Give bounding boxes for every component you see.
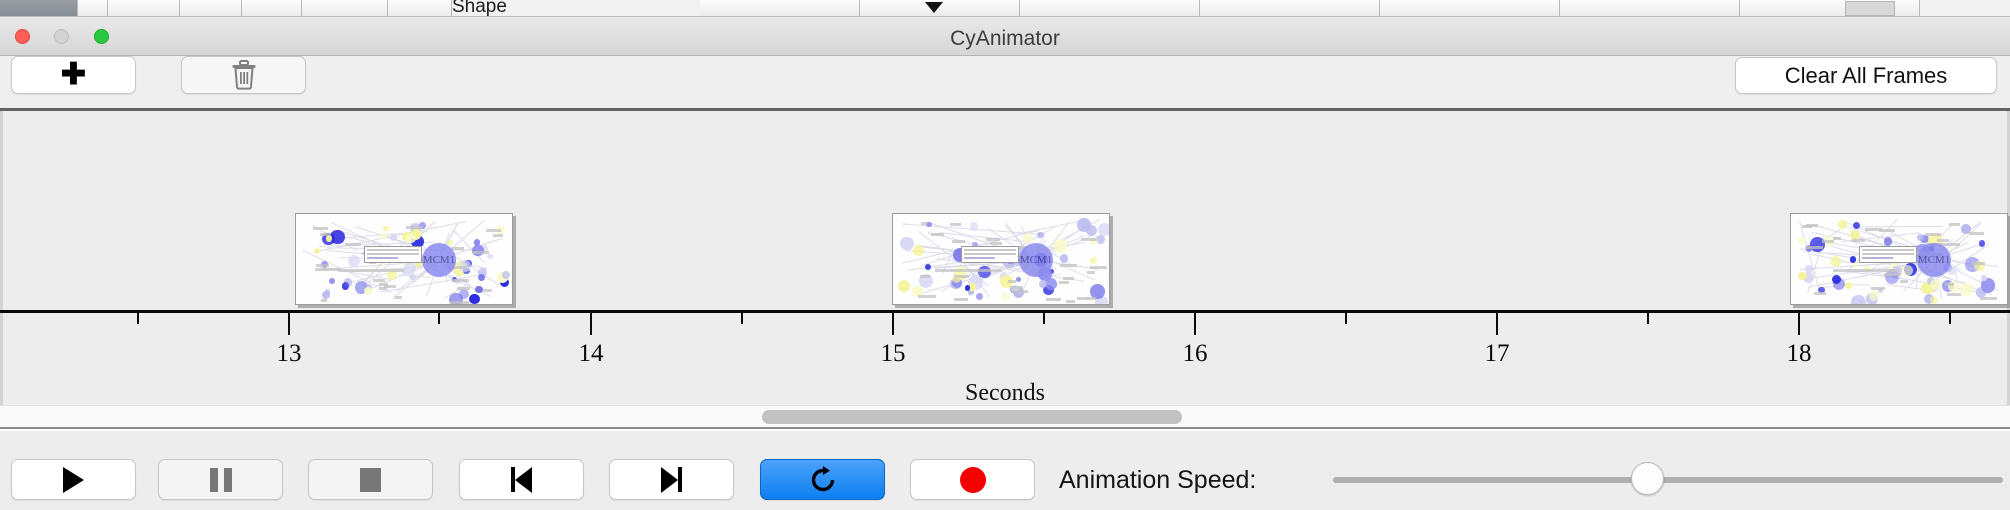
- background-toolbar-chip: [388, 0, 452, 17]
- network-node-label: [320, 233, 331, 236]
- clear-all-frames-button[interactable]: Clear All Frames: [1735, 57, 1997, 94]
- background-shape-label: Shape: [452, 0, 507, 17]
- network-node: [1023, 233, 1033, 243]
- background-toolbar-chip: [302, 0, 388, 17]
- network-node-label: [1969, 232, 1984, 235]
- network-node: [487, 254, 493, 260]
- skip-to-start-button[interactable]: [459, 459, 584, 500]
- axis-tick-minor: [1345, 313, 1347, 324]
- network-thumbnail-canvas: MCM1: [296, 214, 512, 304]
- network-node-label: [1833, 237, 1841, 240]
- network-node: [326, 235, 332, 241]
- play-icon: [63, 467, 84, 493]
- timeline-axis-line: [0, 310, 2010, 313]
- network-node-label: [991, 242, 1002, 245]
- network-node: [1845, 282, 1852, 289]
- network-node-label: [952, 240, 965, 243]
- background-toolbar-chip: [1020, 0, 1200, 17]
- background-cursor-notch: [925, 2, 943, 13]
- network-node: [1851, 295, 1866, 305]
- animation-speed-label: Animation Speed:: [1059, 466, 1256, 495]
- network-node-label: [1900, 280, 1907, 283]
- axis-tick-label: 14: [579, 340, 604, 368]
- pause-icon: [210, 468, 232, 492]
- network-node: [1798, 237, 1805, 244]
- network-node-label: [1884, 273, 1901, 276]
- delete-frame-button[interactable]: [181, 56, 306, 94]
- network-hub-node: MCM1: [422, 243, 456, 277]
- network-node: [1090, 257, 1097, 264]
- network-node-label: [395, 296, 402, 299]
- network-node: [1037, 232, 1043, 238]
- axis-tick-major: [590, 313, 592, 335]
- record-button[interactable]: [910, 459, 1035, 500]
- network-node-label: [920, 275, 931, 278]
- network-node: [976, 293, 983, 300]
- background-toolbar-chip: [700, 0, 860, 17]
- network-annotation-callout: [1859, 246, 1917, 263]
- skip-to-end-button[interactable]: [609, 459, 734, 500]
- network-node: [970, 222, 978, 230]
- loop-button[interactable]: [760, 459, 885, 500]
- network-node-label: [1059, 281, 1069, 284]
- network-node-label: [1971, 262, 1986, 265]
- network-node: [1930, 279, 1941, 290]
- network-node: [1917, 234, 1924, 241]
- axis-tick-minor: [137, 313, 139, 324]
- network-hub-node: MCM1: [1019, 243, 1053, 277]
- network-node-label: [1949, 223, 1960, 226]
- axis-tick-label: 16: [1183, 340, 1208, 368]
- network-node-label: [321, 299, 328, 302]
- network-node-label: [1090, 266, 1107, 269]
- network-node: [913, 245, 924, 256]
- loop-icon: [808, 465, 838, 495]
- axis-tick-minor: [741, 313, 743, 324]
- network-node: [1798, 272, 1807, 281]
- network-node-label: [1802, 225, 1813, 228]
- network-caption-text: [338, 269, 404, 272]
- network-node: [1001, 293, 1009, 301]
- skip-back-icon: [511, 467, 532, 493]
- background-toolbar-chip: [1560, 0, 1740, 17]
- network-node: [1979, 240, 1986, 247]
- network-node: [478, 274, 485, 281]
- axis-tick-minor: [1647, 313, 1649, 324]
- network-node-label: [1066, 300, 1076, 303]
- network-node: [406, 234, 415, 243]
- network-node-label: [1980, 297, 1997, 300]
- skip-forward-icon: [661, 467, 682, 493]
- plus-icon: ✚: [61, 60, 86, 90]
- network-node: [342, 282, 349, 289]
- network-node: [364, 287, 372, 295]
- axis-tick-label: 13: [277, 340, 302, 368]
- background-toolbar-chip: [242, 0, 302, 17]
- network-node-label: [1852, 239, 1865, 242]
- axis-tick-major: [1496, 313, 1498, 335]
- network-node-label: [954, 275, 970, 278]
- network-node-label: [1814, 292, 1826, 295]
- network-node-label: [345, 243, 361, 246]
- axis-tick-label: 15: [881, 340, 906, 368]
- network-node: [469, 294, 480, 305]
- background-toolbar-chip: [0, 0, 78, 17]
- network-node: [381, 233, 387, 239]
- axis-tick-minor: [438, 313, 440, 324]
- frame-thumbnail[interactable]: MCM1: [1790, 213, 2008, 305]
- network-node: [1830, 256, 1841, 267]
- background-toolbar-chip: [1200, 0, 1380, 17]
- network-node-label: [452, 279, 470, 282]
- play-button[interactable]: [11, 459, 136, 500]
- frame-thumbnail[interactable]: MCM1: [892, 213, 1110, 305]
- network-node: [1054, 239, 1067, 252]
- axis-tick-major: [892, 313, 894, 335]
- network-node-label: [1805, 246, 1824, 249]
- network-node: [925, 264, 931, 270]
- network-node-label: [954, 298, 968, 301]
- background-window-strip: Shape: [0, 0, 2010, 17]
- network-node-label: [406, 226, 423, 229]
- timeline-axis-title: Seconds: [0, 380, 2010, 407]
- network-node-label: [1087, 297, 1097, 300]
- network-node-label: [1063, 277, 1074, 280]
- network-node-label: [1947, 293, 1961, 296]
- window-titlebar: CyAnimator: [0, 17, 2010, 56]
- network-thumbnail-canvas: MCM1: [893, 214, 1109, 304]
- record-icon: [960, 467, 986, 493]
- network-node-label: [921, 222, 927, 225]
- network-node: [1838, 220, 1847, 229]
- network-node: [1981, 275, 1987, 281]
- axis-tick-minor: [1949, 313, 1951, 324]
- network-node-label: [493, 234, 503, 237]
- animation-speed-slider-thumb[interactable]: [1631, 462, 1664, 495]
- axis-tick-label: 17: [1485, 340, 1510, 368]
- network-node-label: [1081, 238, 1097, 241]
- background-toolbar-chip: [180, 0, 242, 17]
- network-node-label: [1871, 287, 1884, 290]
- network-node: [1039, 280, 1047, 288]
- timeline-scrollbar-thumb[interactable]: [762, 410, 1182, 424]
- stop-icon: [360, 468, 381, 492]
- axis-tick-major: [288, 313, 290, 335]
- timeline-left-edge: [0, 111, 3, 405]
- pause-button[interactable]: [158, 459, 283, 500]
- animation-speed-slider-track[interactable]: [1333, 477, 2003, 483]
- network-node-label: [315, 268, 327, 271]
- network-node-label: [1925, 233, 1942, 236]
- network-caption-text: [935, 269, 1001, 272]
- network-node: [1045, 278, 1057, 290]
- network-node-label: [316, 264, 330, 267]
- background-toolbar-chip: [1380, 0, 1560, 17]
- network-node: [1930, 296, 1938, 304]
- axis-tick-label: 18: [1787, 340, 1812, 368]
- network-node: [1016, 277, 1021, 282]
- network-node-label: [931, 233, 944, 236]
- window-title: CyAnimator: [0, 27, 2010, 51]
- network-node: [383, 226, 389, 232]
- add-frame-button[interactable]: ✚: [11, 56, 136, 94]
- trash-icon: [231, 60, 257, 90]
- network-node: [474, 239, 480, 245]
- network-node: [1850, 256, 1856, 262]
- network-node: [965, 285, 971, 291]
- network-node: [447, 240, 453, 246]
- network-node-label: [486, 229, 501, 232]
- network-node: [1060, 254, 1068, 262]
- network-annotation-callout: [961, 246, 1019, 263]
- network-node-label: [1945, 283, 1954, 286]
- network-node: [1960, 283, 1973, 296]
- network-node-label: [1011, 290, 1028, 293]
- background-toolbar-chip: [78, 0, 108, 17]
- background-gripper: [1845, 1, 1895, 16]
- network-node: [314, 248, 320, 254]
- background-toolbar-chip: [108, 0, 180, 17]
- network-node-label: [1008, 280, 1016, 283]
- network-node-label: [483, 289, 492, 292]
- network-node-label: [313, 227, 328, 230]
- network-node: [409, 274, 415, 280]
- stop-button[interactable]: [308, 459, 433, 500]
- network-node: [329, 278, 335, 284]
- network-node: [390, 234, 397, 241]
- axis-tick-major: [1798, 313, 1800, 335]
- network-node: [1098, 223, 1110, 236]
- network-node: [900, 237, 913, 250]
- network-node-label: [384, 285, 396, 288]
- network-node: [1901, 265, 1912, 276]
- network-thumbnail-canvas: MCM1: [1791, 214, 2007, 304]
- network-node: [898, 280, 910, 292]
- network-node-label: [373, 279, 385, 282]
- axis-tick-major: [1194, 313, 1196, 335]
- network-node-label: [918, 295, 936, 298]
- frame-thumbnail[interactable]: MCM1: [295, 213, 513, 305]
- network-node-label: [986, 238, 1000, 241]
- network-node-label: [451, 301, 470, 304]
- network-node-label: [472, 251, 490, 254]
- network-node-label: [1060, 264, 1077, 267]
- network-node-label: [1087, 271, 1095, 274]
- axis-tick-minor: [1043, 313, 1045, 324]
- network-node-label: [1046, 298, 1061, 301]
- network-annotation-callout: [364, 246, 422, 263]
- network-hub-node: MCM1: [1917, 243, 1951, 277]
- network-caption-text: [1833, 269, 1899, 272]
- network-node: [1884, 237, 1893, 246]
- network-node: [1805, 265, 1813, 273]
- network-node: [502, 271, 510, 279]
- network-node-label: [1879, 229, 1895, 232]
- network-node-label: [457, 287, 469, 290]
- network-node-label: [950, 223, 961, 226]
